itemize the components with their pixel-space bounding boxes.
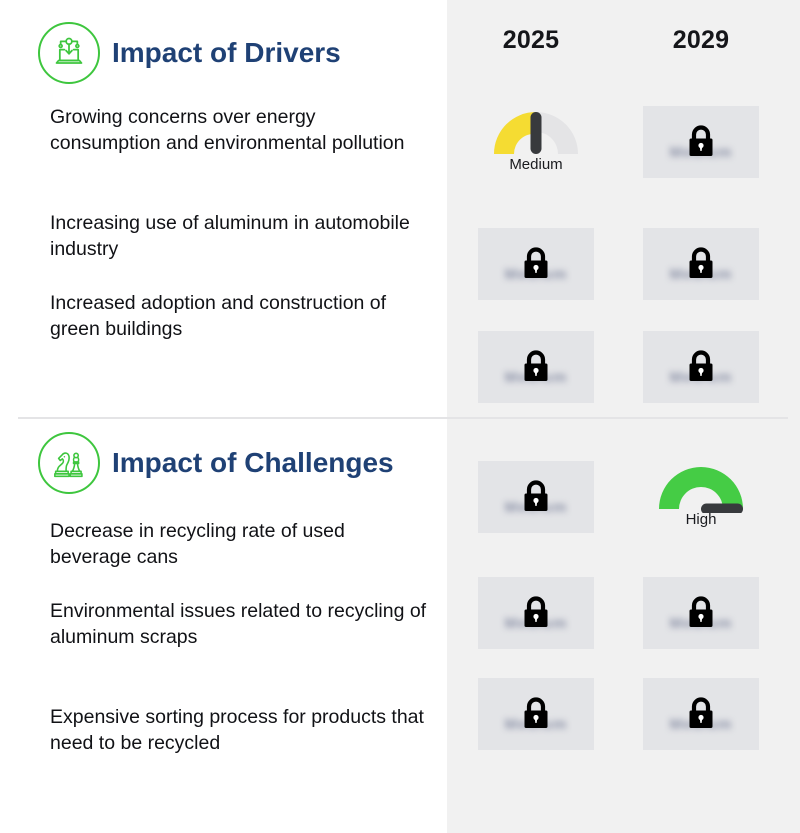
- section-header-drivers: Impact of Drivers: [38, 22, 341, 84]
- lock-icon: [519, 478, 553, 516]
- gauge-label: Medium: [488, 156, 584, 173]
- locked-cell[interactable]: Medium: [643, 228, 759, 300]
- lock-icon: [684, 594, 718, 632]
- locked-cell[interactable]: Medium: [478, 228, 594, 300]
- cell-drivers-1-2025[interactable]: Medium: [478, 228, 594, 300]
- locked-cell[interactable]: Medium: [643, 577, 759, 649]
- cell-drivers-2-2025[interactable]: Medium: [478, 331, 594, 403]
- infographic-page: 2025 2029 Impact of Drivers Grow: [0, 0, 800, 833]
- lock-icon: [519, 245, 553, 283]
- list-item: Increased adoption and construction of g…: [50, 290, 430, 342]
- section-title-challenges: Impact of Challenges: [112, 447, 394, 479]
- cell-challenges-1-2025[interactable]: Medium: [478, 577, 594, 649]
- locked-cell[interactable]: Medium: [643, 106, 759, 178]
- cell-drivers-2-2029[interactable]: Medium: [643, 331, 759, 403]
- cell-challenges-2-2029[interactable]: Medium: [643, 678, 759, 750]
- chess-pieces-icon: [38, 432, 100, 494]
- lock-icon: [684, 348, 718, 386]
- lock-icon: [684, 123, 718, 161]
- lock-icon: [684, 245, 718, 283]
- section-header-challenges: Impact of Challenges: [38, 432, 394, 494]
- lock-icon: [519, 594, 553, 632]
- locked-cell[interactable]: Medium: [478, 461, 594, 533]
- list-item: Expensive sorting process for products t…: [50, 704, 430, 756]
- section-divider: [18, 417, 788, 419]
- locked-cell[interactable]: Medium: [643, 678, 759, 750]
- cell-drivers-1-2029[interactable]: Medium: [643, 228, 759, 300]
- list-item: Growing concerns over energy consumption…: [50, 104, 430, 156]
- locked-cell[interactable]: Medium: [478, 577, 594, 649]
- laptop-download-gear-icon: [38, 22, 100, 84]
- cell-challenges-1-2029[interactable]: Medium: [643, 577, 759, 649]
- gauge-label: High: [653, 511, 749, 528]
- list-item: Increasing use of aluminum in automobile…: [50, 210, 430, 262]
- gauge-high: High: [653, 461, 749, 533]
- section-title-drivers: Impact of Drivers: [112, 37, 341, 69]
- cell-challenges-2-2025[interactable]: Medium: [478, 678, 594, 750]
- lock-icon: [519, 695, 553, 733]
- column-header-2025: 2025: [471, 26, 591, 55]
- cell-drivers-0-2025[interactable]: Medium: [478, 106, 594, 178]
- lock-icon: [684, 695, 718, 733]
- list-item: Decrease in recycling rate of used bever…: [50, 518, 430, 570]
- locked-cell[interactable]: Medium: [478, 678, 594, 750]
- cell-challenges-0-2025[interactable]: Medium: [478, 461, 594, 533]
- locked-cell[interactable]: Medium: [643, 331, 759, 403]
- list-item: Environmental issues related to recyclin…: [50, 598, 430, 650]
- column-header-2029: 2029: [641, 26, 761, 55]
- cell-drivers-0-2029[interactable]: Medium: [643, 106, 759, 178]
- gauge-medium: Medium: [488, 106, 584, 178]
- cell-challenges-0-2029[interactable]: High: [643, 461, 759, 533]
- lock-icon: [519, 348, 553, 386]
- locked-cell[interactable]: Medium: [478, 331, 594, 403]
